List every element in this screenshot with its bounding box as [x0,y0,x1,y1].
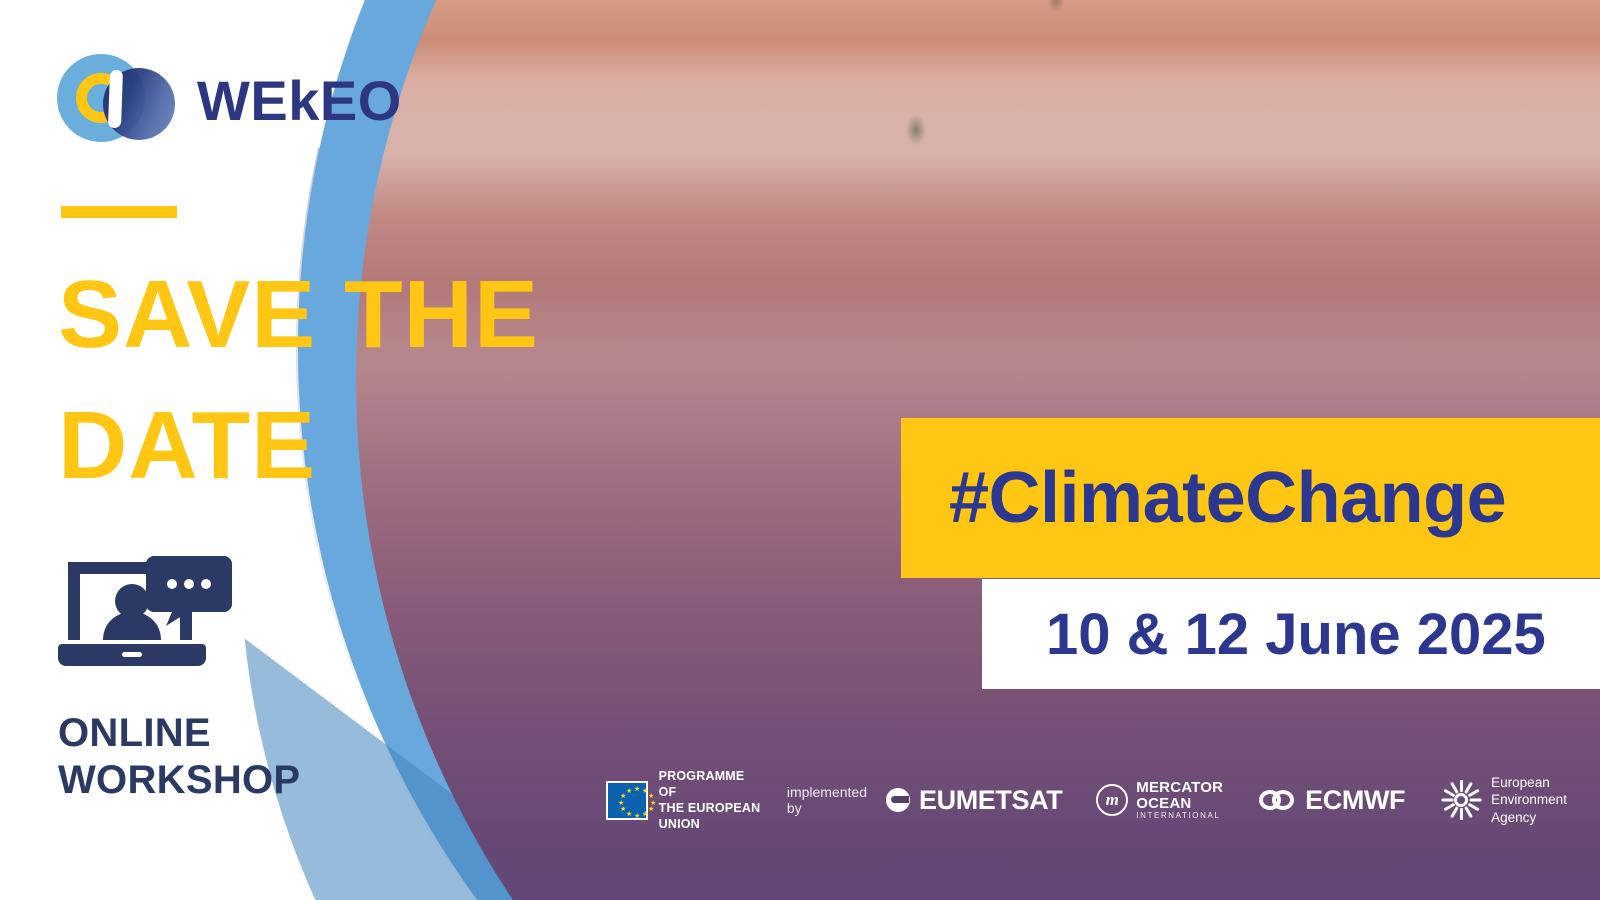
eea-label: European Environment Agency [1491,774,1567,827]
ecmwf-label: ECMWF [1305,785,1405,816]
european-environment-agency-logo: European Environment Agency [1441,774,1567,827]
eumetsat-label: EUMETSAT [919,785,1062,816]
eu-label-line-2: THE EUROPEAN UNION [659,800,761,832]
eea-line-1: European [1491,774,1567,792]
eu-label-line-1: PROGRAMME OF [659,768,761,800]
hashtag-text: #ClimateChange [949,457,1506,539]
ecmwf-icon [1259,789,1301,811]
page-title: SAVE THE DATE [58,250,618,511]
mercator-icon: m [1096,784,1128,816]
yellow-divider [61,206,177,218]
headline-line-1: SAVE THE [58,261,539,368]
eea-line-2: Environment [1491,791,1567,809]
logo-white-gap [108,70,123,128]
eumetsat-logo: EUMETSAT [886,785,1062,816]
wekeo-circles-logo [57,54,185,142]
mercator-line-1: MERCATOR [1136,780,1223,796]
mercator-ocean-logo: m MERCATOR OCEAN INTERNATIONAL [1096,780,1223,821]
wekeo-wordmark: WEkEO [197,68,402,133]
online-workshop-label: ONLINE WORKSHOP [58,710,300,804]
date-banner: 10 & 12 June 2025 [982,579,1600,689]
wekeo-logo[interactable]: WEkEO [57,52,417,144]
date-text: 10 & 12 June 2025 [1046,601,1546,668]
mercator-line-3: INTERNATIONAL [1136,812,1223,821]
poster-canvas: WEkEO SAVE THE DATE ONLINE WORKSHOP [0,0,1600,900]
hashtag-banner: #ClimateChange [901,418,1600,578]
eea-line-3: Agency [1491,809,1567,827]
mercator-label: MERCATOR OCEAN INTERNATIONAL [1136,780,1223,821]
eu-flag-icon: ★ ★ ★ ★ ★ ★ ★ ★ ★ ★ ★ ★ [606,781,648,820]
partner-logo-strip: ★ ★ ★ ★ ★ ★ ★ ★ ★ ★ ★ ★ PROGRAMME OF THE… [606,772,1600,828]
online-workshop-laptop-icon [58,554,234,676]
headline-line-2: DATE [58,381,618,512]
workshop-line-1: ONLINE [58,710,300,757]
ecmwf-logo: ECMWF [1259,785,1405,816]
eu-programme-logo: ★ ★ ★ ★ ★ ★ ★ ★ ★ ★ ★ ★ PROGRAMME OF THE… [606,768,761,832]
mercator-line-2: OCEAN [1136,796,1223,812]
workshop-line-2: WORKSHOP [58,757,300,804]
implemented-by-label: implemented by [787,784,867,816]
eu-programme-label: PROGRAMME OF THE EUROPEAN UNION [659,768,761,832]
eea-sun-icon [1441,780,1481,820]
eumetsat-icon [886,788,910,812]
